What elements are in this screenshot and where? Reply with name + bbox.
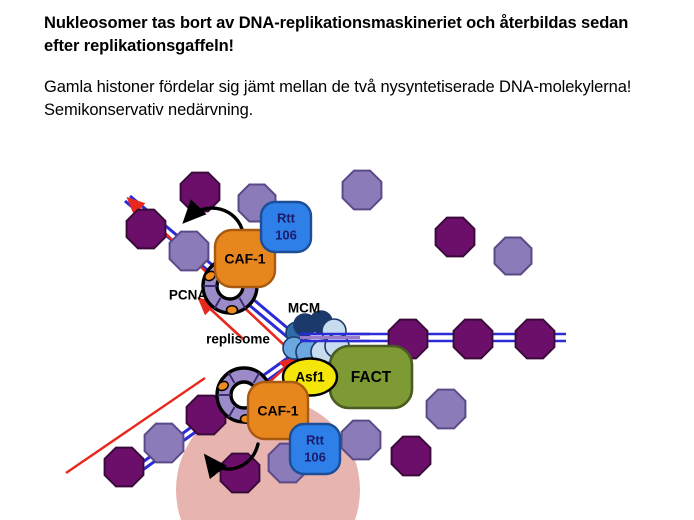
right-strand-nuc-3	[516, 320, 555, 359]
free-nuc-8	[342, 421, 381, 460]
right-strand-nuc-2	[454, 320, 493, 359]
top-strand-nucleosome-group	[127, 210, 209, 271]
free-nuc-10	[221, 454, 260, 493]
fact-complex[interactable]: FACT	[330, 346, 412, 408]
caf1-top-label: CAF-1	[224, 251, 265, 267]
mcm-label: MCM	[288, 301, 320, 316]
caf1-bottom-label: CAF-1	[257, 403, 298, 419]
free-nuc-3	[343, 171, 382, 210]
rtt106-complex-top[interactable]: Rtt 106	[261, 202, 311, 252]
free-nuc-7	[392, 437, 431, 476]
free-nuc-1	[181, 173, 220, 212]
rtt106-top-label-line1: Rtt	[277, 210, 296, 225]
free-nuc-6	[427, 390, 466, 429]
top-strand-nuc-2	[170, 232, 209, 271]
rtt106-complex-bottom[interactable]: Rtt 106	[290, 424, 340, 474]
right-strand-nucleosome-group	[389, 320, 555, 359]
top-strand-nuc-1	[127, 210, 166, 249]
replisome-label: replisome	[206, 332, 270, 347]
dna-replication-nucleosome-diagram: FACT Asf1 CAF-1 Rtt 106 CAF-1	[0, 150, 694, 520]
bottom-strand-nuc-2	[145, 424, 184, 463]
rtt106-bottom-label-line1: Rtt	[306, 432, 325, 447]
body-paragraph: Gamla histoner fördelar sig jämt mellan …	[44, 76, 664, 123]
free-nuc-5	[495, 238, 532, 275]
bottom-strand-nuc-3	[105, 448, 144, 487]
free-nuc-4	[436, 218, 475, 257]
page-title: Nukleosomer tas bort av DNA-replikations…	[44, 12, 664, 58]
slide-canvas: Nukleosomer tas bort av DNA-replikations…	[0, 0, 694, 520]
rtt106-top-label-line2: 106	[275, 227, 297, 242]
rtt106-bottom-label-line2: 106	[304, 449, 326, 464]
fact-label: FACT	[351, 369, 392, 386]
pcna-label: PCNA	[169, 288, 208, 303]
asf1-label: Asf1	[295, 370, 325, 385]
